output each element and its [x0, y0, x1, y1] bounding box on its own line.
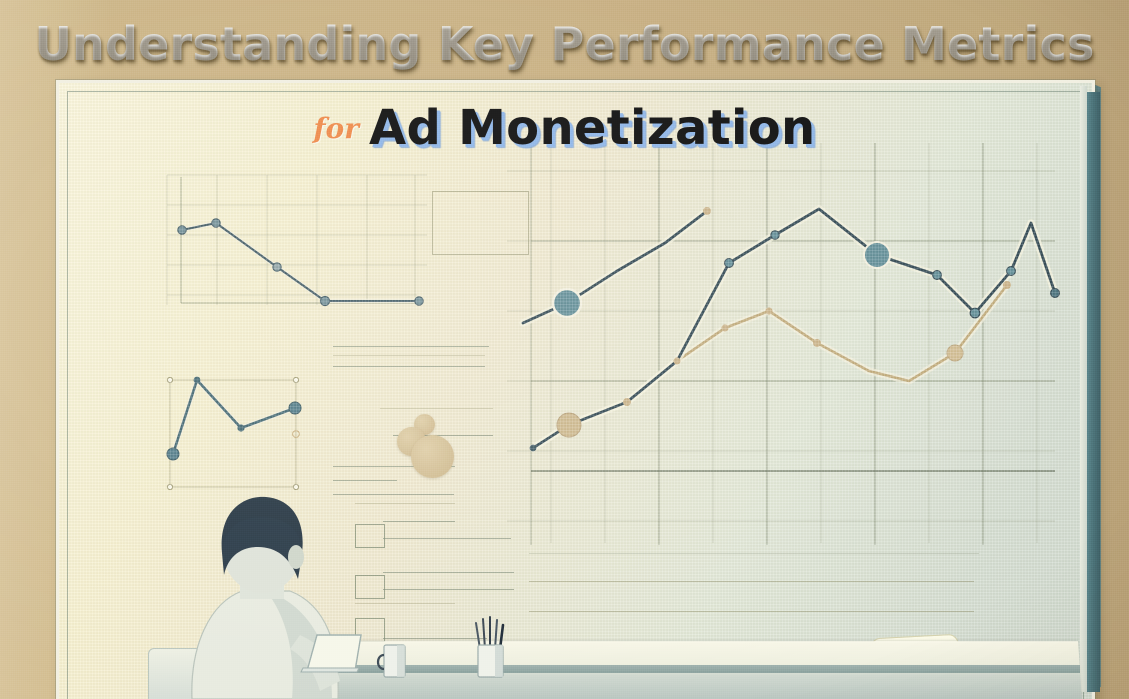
ecpm-peak-marker — [703, 207, 711, 215]
slide-canvas: Understanding Key Performance Metrics fo… — [0, 0, 1129, 699]
subtitle: forAd Monetization — [0, 100, 1129, 156]
small-chart-top[interactable] — [167, 175, 427, 325]
rule-line — [380, 408, 493, 409]
rule-line — [333, 366, 485, 367]
revenue-big-marker[interactable] — [553, 289, 581, 317]
laptop-screen — [307, 635, 361, 671]
pens — [476, 617, 503, 649]
subtitle-subject: Ad Monetization — [369, 100, 815, 156]
board-rule-long-2 — [529, 611, 974, 612]
small-chart-bottom[interactable] — [165, 368, 310, 498]
coffee-mug[interactable] — [376, 641, 409, 679]
small-chart-bottom-series-halo — [173, 380, 295, 454]
placeholder-chart-frame[interactable] — [432, 191, 529, 255]
whiteboard-right-edge — [1086, 92, 1100, 692]
checkbox-row-1-line-b — [383, 538, 511, 539]
checkbox-row-2-line-b — [383, 589, 514, 590]
checkbox-row-1-line-a — [383, 521, 455, 522]
person-ear — [288, 545, 304, 569]
subtitle-for-word: for — [314, 112, 359, 145]
revenue-left-halo — [523, 211, 707, 323]
rule-line — [333, 346, 489, 347]
checkbox-row-2-line-a — [383, 572, 514, 573]
pen-cup[interactable] — [470, 617, 510, 679]
mug-handle — [378, 655, 384, 669]
selection-box[interactable] — [170, 380, 296, 487]
bubble-large — [411, 435, 454, 478]
board-rule-long-1 — [529, 581, 974, 582]
mug-body-shade — [397, 645, 405, 677]
laptop[interactable] — [297, 631, 369, 673]
laptop-base — [301, 668, 359, 672]
board-grid-line — [529, 553, 979, 554]
whiteboard-right-highlight — [1080, 86, 1087, 692]
pen-cup-shade — [495, 645, 503, 677]
page-title: Understanding Key Performance Metrics — [0, 17, 1129, 71]
rule-line — [333, 355, 485, 356]
title-area: Understanding Key Performance Metrics — [0, 0, 1129, 84]
main-chart-left-segment — [507, 143, 767, 403]
selection-handles[interactable] — [167, 377, 299, 489]
rule-line — [333, 480, 397, 481]
small-chart-top-markers — [178, 219, 423, 306]
small-chart-top-grid — [167, 175, 427, 305]
